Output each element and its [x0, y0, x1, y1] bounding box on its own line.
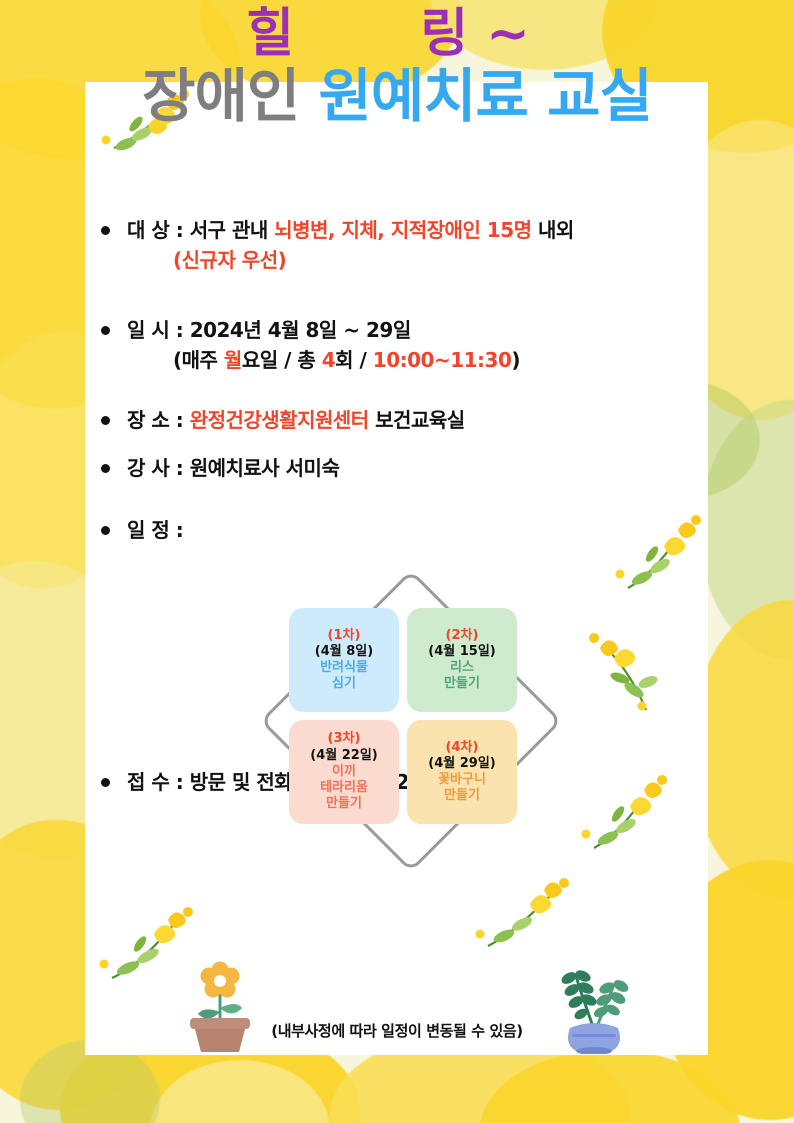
place-label: 장 소 : [127, 408, 190, 432]
title-gray-part: 장애인 [142, 62, 299, 130]
session-3-number: (3차) [328, 731, 361, 747]
target-plain-1: 서구 관내 [190, 218, 275, 242]
spacer [95, 279, 655, 315]
teacher-line: 강 사 : 원예치료사 서미숙 [127, 453, 655, 483]
session-2-number: (2차) [446, 628, 479, 644]
spacer [95, 439, 655, 453]
session-4-date: (4월 29일) [428, 756, 495, 772]
place-line: 장 소 : 완정건강생활지원센터 보건교육실 [127, 405, 655, 435]
session-1-number: (1차) [328, 628, 361, 644]
session-card-4: (4차) (4월 29일) 꽃바구니 만들기 [407, 720, 517, 824]
session-card-1: (1차) (4월 8일) 반려식물 심기 [289, 608, 399, 712]
bullet-dot-icon [101, 326, 110, 335]
target-line-2: (신규자 우선) [127, 245, 655, 275]
bullet-dot-icon [101, 464, 110, 473]
schedule-grid: (1차) (4월 8일) 반려식물 심기 (2차) (4월 15일) 리스 만들… [289, 608, 527, 824]
dt-h2: 4 [322, 348, 335, 372]
poster-title: 힐 링~ 장애인 원예치료 교실 [0, 8, 794, 127]
dt-p1: (매주 [173, 348, 224, 372]
session-2-date: (4월 15일) [428, 644, 495, 660]
session-4-title-2: 만들기 [444, 788, 480, 804]
target-plain-2: 내외 [532, 218, 574, 242]
dt-p2: 요일 / 총 [242, 348, 322, 372]
footnote: (내부사정에 따라 일정이 변동될 수 있음) [0, 1020, 794, 1041]
bullet-dot-icon [101, 226, 110, 235]
title-line-1: 힐 링~ [0, 8, 794, 60]
schedule-label: 일 정 : [127, 515, 655, 545]
datetime-plain-1: 2024년 4월 8일 ~ 29일 [190, 318, 411, 342]
bullet-dot-icon [101, 416, 110, 425]
session-card-3: (3차) (4월 22일) 이끼 테라리움 만들기 [289, 720, 399, 824]
target-highlight: 뇌병변, 지체, 지적장애인 15명 [274, 218, 531, 242]
spacer [95, 487, 655, 515]
session-3-title-1: 이끼 [332, 764, 356, 780]
list-item-teacher: 강 사 : 원예치료사 서미숙 [95, 453, 655, 483]
reception-label: 접 수 : [127, 770, 190, 794]
dt-h1: 월 [224, 348, 242, 372]
datetime-line-2: (매주 월요일 / 총 4회 / 10:00~11:30) [127, 345, 655, 375]
session-3-title-2: 테라리움 [320, 780, 368, 796]
dt-p4: ) [511, 348, 520, 372]
session-1-title-2: 심기 [332, 676, 356, 692]
teacher-label: 강 사 : [127, 456, 190, 480]
session-4-number: (4차) [446, 740, 479, 756]
list-item-datetime: 일 시 : 2024년 4월 8일 ~ 29일 (매주 월요일 / 총 4회 /… [95, 315, 655, 375]
bullet-dot-icon [101, 778, 110, 787]
poster: 힐 링~ 장애인 원예치료 교실 대 상 : 서구 관내 뇌병변, 지체, 지적… [0, 0, 794, 1123]
title-blue-part: 원예치료 교실 [299, 62, 652, 130]
target-line-1: 대 상 : 서구 관내 뇌병변, 지체, 지적장애인 15명 내외 [127, 215, 655, 245]
datetime-line-1: 일 시 : 2024년 4월 8일 ~ 29일 [127, 315, 655, 345]
list-item-place: 장 소 : 완정건강생활지원센터 보건교육실 [95, 405, 655, 435]
session-3-title-3: 만들기 [326, 796, 362, 812]
dt-h3: 10:00~11:30 [373, 348, 512, 372]
session-4-title-1: 꽃바구니 [438, 772, 486, 788]
session-2-title-2: 만들기 [444, 676, 480, 692]
session-1-date: (4월 8일) [315, 644, 373, 660]
flower-sprig-icon [470, 878, 580, 958]
target-label: 대 상 : [127, 218, 190, 242]
session-3-date: (4월 22일) [310, 748, 377, 764]
teacher-plain: 원예치료사 서미숙 [190, 456, 340, 480]
list-item-schedule: 일 정 : [95, 515, 655, 545]
session-1-title-1: 반려식물 [320, 660, 368, 676]
title-line-2: 장애인 원예치료 교실 [0, 66, 794, 127]
session-2-title-1: 리스 [450, 660, 474, 676]
schedule-diagram: (1차) (4월 8일) 반려식물 심기 (2차) (4월 15일) 리스 만들… [258, 568, 558, 868]
place-plain: 보건교육실 [369, 408, 465, 432]
spacer [95, 379, 655, 405]
datetime-label: 일 시 : [127, 318, 190, 342]
bullet-dot-icon [101, 526, 110, 535]
dt-p3: 회 / [335, 348, 373, 372]
place-highlight: 완정건강생활지원센터 [190, 408, 369, 432]
list-item-target: 대 상 : 서구 관내 뇌병변, 지체, 지적장애인 15명 내외 (신규자 우… [95, 215, 655, 275]
session-card-2: (2차) (4월 15일) 리스 만들기 [407, 608, 517, 712]
